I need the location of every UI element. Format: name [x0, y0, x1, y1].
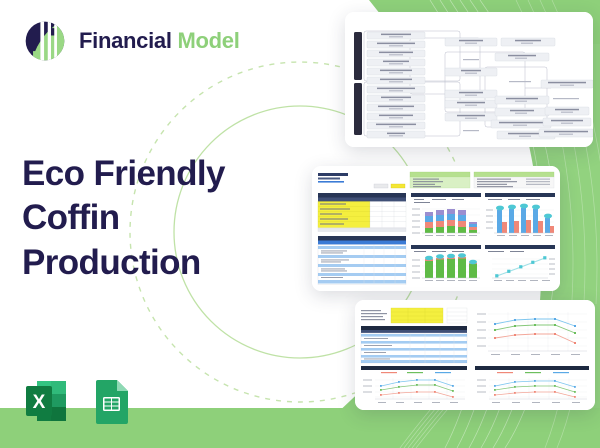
brand-wordmark: Financial Model: [79, 28, 240, 54]
brand-word-model: Model: [177, 28, 239, 53]
chart-report-trend-bottom-left: [361, 376, 467, 404]
svg-text:X: X: [33, 392, 46, 413]
preview-card-dashboard[interactable]: [312, 166, 560, 291]
page-title-line-3: Production: [22, 241, 272, 285]
slide-canvas: Financial Model Eco Friendly Coffin Prod…: [0, 0, 600, 448]
chart-report-trend-bottom-right: [475, 376, 589, 404]
preview-financial-dashboard: [312, 166, 560, 291]
page-title-line-1: Eco Friendly: [22, 152, 272, 196]
page-title-line-2: Coffin: [22, 196, 272, 240]
brand-lockup: Financial Model: [22, 18, 240, 64]
brand-word-financial: Financial: [79, 28, 172, 53]
preview-card-dupont[interactable]: [345, 12, 593, 147]
google-sheets-icon[interactable]: [87, 377, 135, 425]
financial-model-logo-icon: [22, 18, 68, 64]
excel-icon[interactable]: X: [22, 377, 70, 425]
file-format-badges: X: [22, 377, 135, 425]
page-title: Eco Friendly Coffin Production: [22, 152, 272, 285]
preview-dupont-tree: [345, 12, 593, 147]
chart-report-trend-top: [475, 308, 589, 360]
preview-card-report[interactable]: [355, 300, 595, 410]
preview-projections-report: [355, 300, 595, 410]
